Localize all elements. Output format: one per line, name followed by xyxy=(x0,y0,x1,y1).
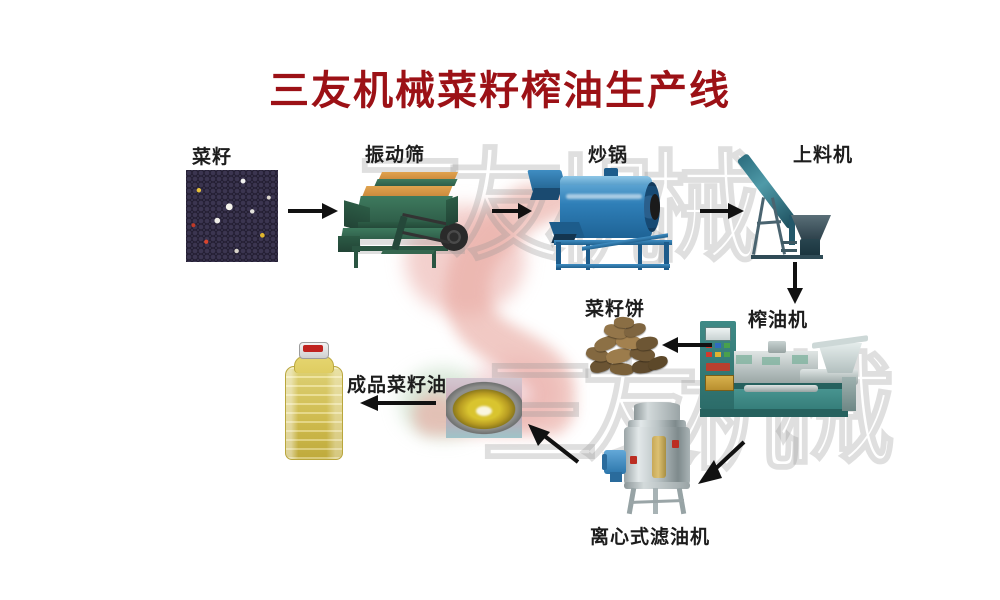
arrow-oil-to-product xyxy=(358,390,436,416)
arrow-roaster-to-elevator xyxy=(700,198,746,224)
node-screw-elevator xyxy=(745,155,855,267)
label-press: 榨油机 xyxy=(748,305,808,332)
node-seeds-photo xyxy=(186,170,278,262)
label-seeds: 菜籽 xyxy=(192,142,232,169)
label-roaster: 炒锅 xyxy=(588,140,628,167)
label-elevator: 上料机 xyxy=(793,140,853,167)
oil-sheen xyxy=(476,406,492,416)
cake-flakes xyxy=(580,315,672,381)
arrow-seeds-to-screen xyxy=(288,198,340,224)
page-title: 三友机械菜籽榨油生产线 xyxy=(0,58,1000,116)
production-line-diagram: 三 友 机 械 三 友 机 械 三友机械菜籽榨油生产线 菜籽 振动筛 炒锅 上料… xyxy=(0,0,1000,600)
bottle-cap-label xyxy=(303,345,323,352)
arrow-filter-to-oil xyxy=(520,420,582,466)
node-oil-bottle xyxy=(285,340,341,462)
node-oil-pan-photo xyxy=(446,378,522,438)
arrow-press-to-cake xyxy=(662,332,712,358)
label-cake: 菜籽饼 xyxy=(585,294,645,321)
arrow-screen-to-roaster xyxy=(492,198,534,224)
node-roasting-pot xyxy=(520,166,680,274)
node-rapeseed-cake xyxy=(580,315,672,381)
label-screen: 振动筛 xyxy=(365,140,425,167)
arrow-press-to-filter xyxy=(690,438,746,486)
label-filter: 离心式滤油机 xyxy=(590,522,710,549)
node-vibrating-screen xyxy=(336,168,486,272)
arrow-elevator-to-press xyxy=(782,262,808,306)
bottle-body xyxy=(285,366,343,460)
